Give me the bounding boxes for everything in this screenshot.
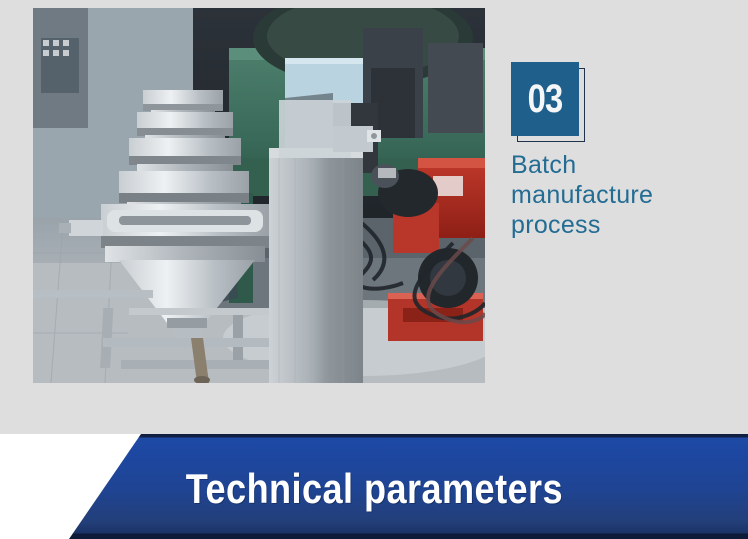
product-photo	[33, 8, 485, 383]
product-photo-image	[33, 8, 485, 383]
step-number: 03	[517, 62, 573, 136]
step-number-badge: 03	[511, 62, 587, 144]
step-title-line-2: manufacture	[511, 180, 741, 210]
step-title: Batch manufacture process	[511, 150, 741, 240]
slide-page: 03 Batch manufacture process Technical p…	[0, 0, 748, 539]
step-title-line-3: process	[511, 210, 741, 240]
step-title-line-1: Batch	[511, 150, 741, 180]
